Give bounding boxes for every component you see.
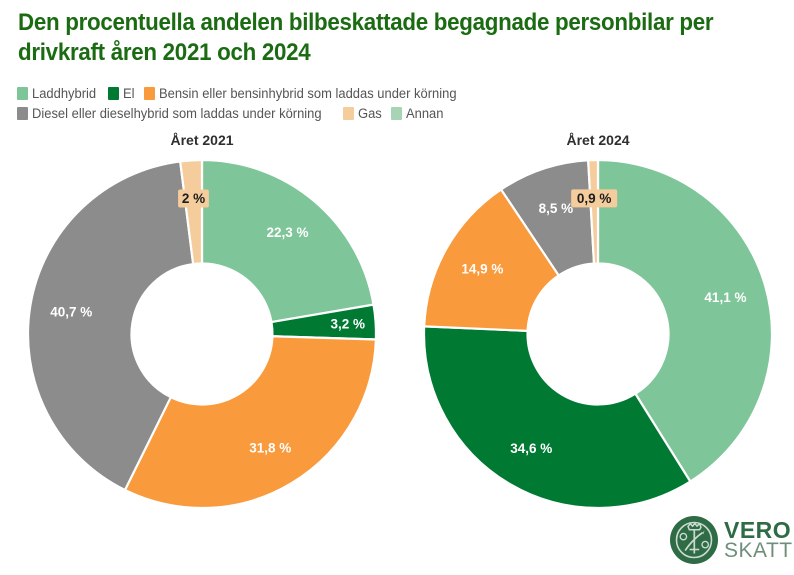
- slice-value-label: 3,2 %: [331, 316, 366, 331]
- legend-swatch-icon: [144, 87, 155, 100]
- legend-item-diesel[interactable]: Diesel eller dieselhybrid som laddas und…: [17, 104, 334, 123]
- slice-value-label: 31,8 %: [249, 440, 291, 455]
- page-title: Den procentuella andelen bilbeskattade b…: [18, 8, 725, 68]
- pie-slice[interactable]: [202, 160, 374, 322]
- legend-item-label: El: [123, 84, 135, 103]
- donut-svg: 41,1 %34,6 %14,9 %8,5 %0,9 %: [408, 154, 788, 514]
- legend-item-label: Gas: [358, 104, 382, 123]
- legend-swatch-icon: [17, 107, 28, 120]
- logo-wordmark: VERO SKATT: [724, 520, 793, 560]
- donut-canvas: 22,3 %3,2 %31,8 %40,7 %2 %: [12, 154, 392, 514]
- vero-skatt-logo: VERO SKATT: [668, 512, 786, 568]
- legend-item-label: Annan: [406, 104, 443, 123]
- slice-value-label: 0,9 %: [577, 191, 612, 206]
- logo-word-vero: VERO: [724, 520, 793, 541]
- slice-value-label: 14,9 %: [461, 262, 503, 277]
- legend-row-2: Diesel eller dieselhybrid som laddas und…: [17, 103, 777, 123]
- legend-item-laddhybrid[interactable]: Laddhybrid: [17, 84, 99, 103]
- slice-value-label: 8,5 %: [539, 201, 574, 216]
- legend-item-label: Laddhybrid: [32, 84, 96, 103]
- legend-item-label: Diesel eller dieselhybrid som laddas und…: [32, 104, 322, 123]
- legend-item-bensin[interactable]: Bensin eller bensinhybrid som laddas und…: [144, 84, 469, 103]
- logo-word-skatt: SKATT: [724, 541, 793, 560]
- legend-item-gas[interactable]: Gas: [343, 104, 383, 123]
- chart-heading-2024: Året 2024: [408, 130, 788, 150]
- slice-value-label: 2 %: [182, 191, 205, 206]
- legend-item-el[interactable]: El: [108, 84, 135, 103]
- legend-swatch-icon: [108, 87, 119, 100]
- slice-value-label: 41,1 %: [704, 290, 746, 305]
- donut-svg: 22,3 %3,2 %31,8 %40,7 %2 %: [12, 154, 392, 514]
- legend-item-annan[interactable]: Annan: [391, 104, 445, 123]
- chart-legend: Laddhybrid El Bensin eller bensinhybrid …: [17, 83, 777, 123]
- slice-value-label: 34,6 %: [510, 441, 552, 456]
- slice-value-label: 22,3 %: [266, 225, 308, 240]
- slice-value-label: 40,7 %: [50, 305, 92, 320]
- legend-swatch-icon: [17, 87, 28, 100]
- legend-row-1: Laddhybrid El Bensin eller bensinhybrid …: [17, 83, 777, 103]
- pie-slice[interactable]: [424, 326, 690, 508]
- pie-slice[interactable]: [125, 336, 376, 508]
- legend-swatch-icon: [391, 107, 402, 120]
- donut-chart-2021: Året 2021 22,3 %3,2 %31,8 %40,7 %2 %: [12, 130, 392, 514]
- legend-item-label: Bensin eller bensinhybrid som laddas und…: [159, 84, 457, 103]
- donut-chart-2024: Året 2024 41,1 %34,6 %14,9 %8,5 %0,9 %: [408, 130, 788, 514]
- chart-heading-2021: Året 2021: [12, 130, 392, 150]
- vero-skatt-emblem-icon: [668, 514, 720, 566]
- legend-swatch-icon: [343, 107, 354, 120]
- donut-canvas: 41,1 %34,6 %14,9 %8,5 %0,9 %: [408, 154, 788, 514]
